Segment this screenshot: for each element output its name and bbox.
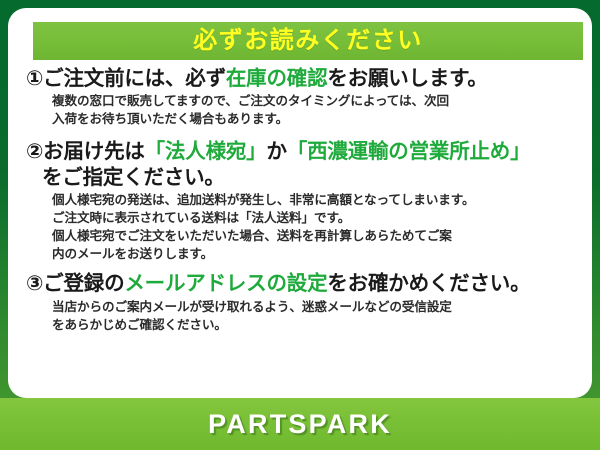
item-3-heading-pre: ご登録の [43,272,124,295]
item-2-sub-line-4: 内のメールをお送りします。 [26,246,592,264]
item-2-number: ② [26,140,43,163]
item-2-heading-pre: お届け先は [43,140,145,163]
item-2-heading: ②お届け先は「法人様宛」か「西濃運輸の営業所止め」 [26,139,592,164]
item-3-sub-line-1: 当店からのご案内メールが受け取れるよう、迷惑メールなどの受信設定 [26,299,592,317]
item-2-heading-line2: をご指定ください。 [26,165,592,190]
item-1-sub-line-1: 複数の窓口で販売してますので、ご注文のタイミングによっては、次回 [26,93,592,111]
item-1-heading-highlight: 在庫の確認 [226,67,328,90]
item-2-sub-line-1: 個人様宅宛の発送は、追加送料が発生し、非常に高額となってしまいます。 [26,192,592,210]
footer-banner: PARTSPARK [0,398,600,450]
notice-item-3: ③ご登録のメールアドレスの設定をお確かめください。 当店からのご案内メールが受け… [26,271,592,334]
header-title: 必ずお読みください [193,29,423,53]
header-banner: 必ずお読みください [33,22,583,60]
item-3-heading: ③ご登録のメールアドレスの設定をお確かめください。 [26,271,592,296]
item-1-sub-line-2: 入荷をお待ち頂いただく場合もあります。 [26,111,592,129]
item-1-heading-pre: ご注文前には、必ず [43,67,226,90]
notice-item-1: ①ご注文前には、必ず在庫の確認をお願いします。 複数の窓口で販売してますので、ご… [26,66,592,129]
notice-panel: 必ずお読みください ①ご注文前には、必ず在庫の確認をお願いします。 複数の窓口で… [8,8,592,398]
item-3-heading-post: をお確かめください。 [327,272,530,295]
notice-item-2: ②お届け先は「法人様宛」か「西濃運輸の営業所止め」 をご指定ください。 個人様宅… [26,139,592,263]
item-2-sub-line-3: 個人様宅宛でご注文をいただいた場合、送料を再計算しあらためてご案 [26,228,592,246]
item-2-heading-highlight-2: 「西濃運輸の営業所止め」 [287,140,531,163]
item-2-sub-line-2: ご注文時に表示されている送料は「法人送料」です。 [26,210,592,228]
item-2-heading-highlight: 「法人様宛」 [145,140,267,163]
brand-logo-text: PARTSPARK [208,409,392,440]
item-3-sub-line-2: をあらかじめご確認ください。 [26,317,592,335]
item-2-heading-mid: か [266,140,286,163]
item-1-heading: ①ご注文前には、必ず在庫の確認をお願いします。 [26,66,592,91]
notice-items-list: ①ご注文前には、必ず在庫の確認をお願いします。 複数の窓口で販売してますので、ご… [26,66,592,335]
item-3-heading-highlight: メールアドレスの設定 [124,272,327,295]
item-1-heading-post: をお願いします。 [327,67,487,90]
item-3-number: ③ [26,272,43,295]
item-1-number: ① [26,67,43,90]
notice-card: 必ずお読みください ①ご注文前には、必ず在庫の確認をお願いします。 複数の窓口で… [0,0,600,450]
